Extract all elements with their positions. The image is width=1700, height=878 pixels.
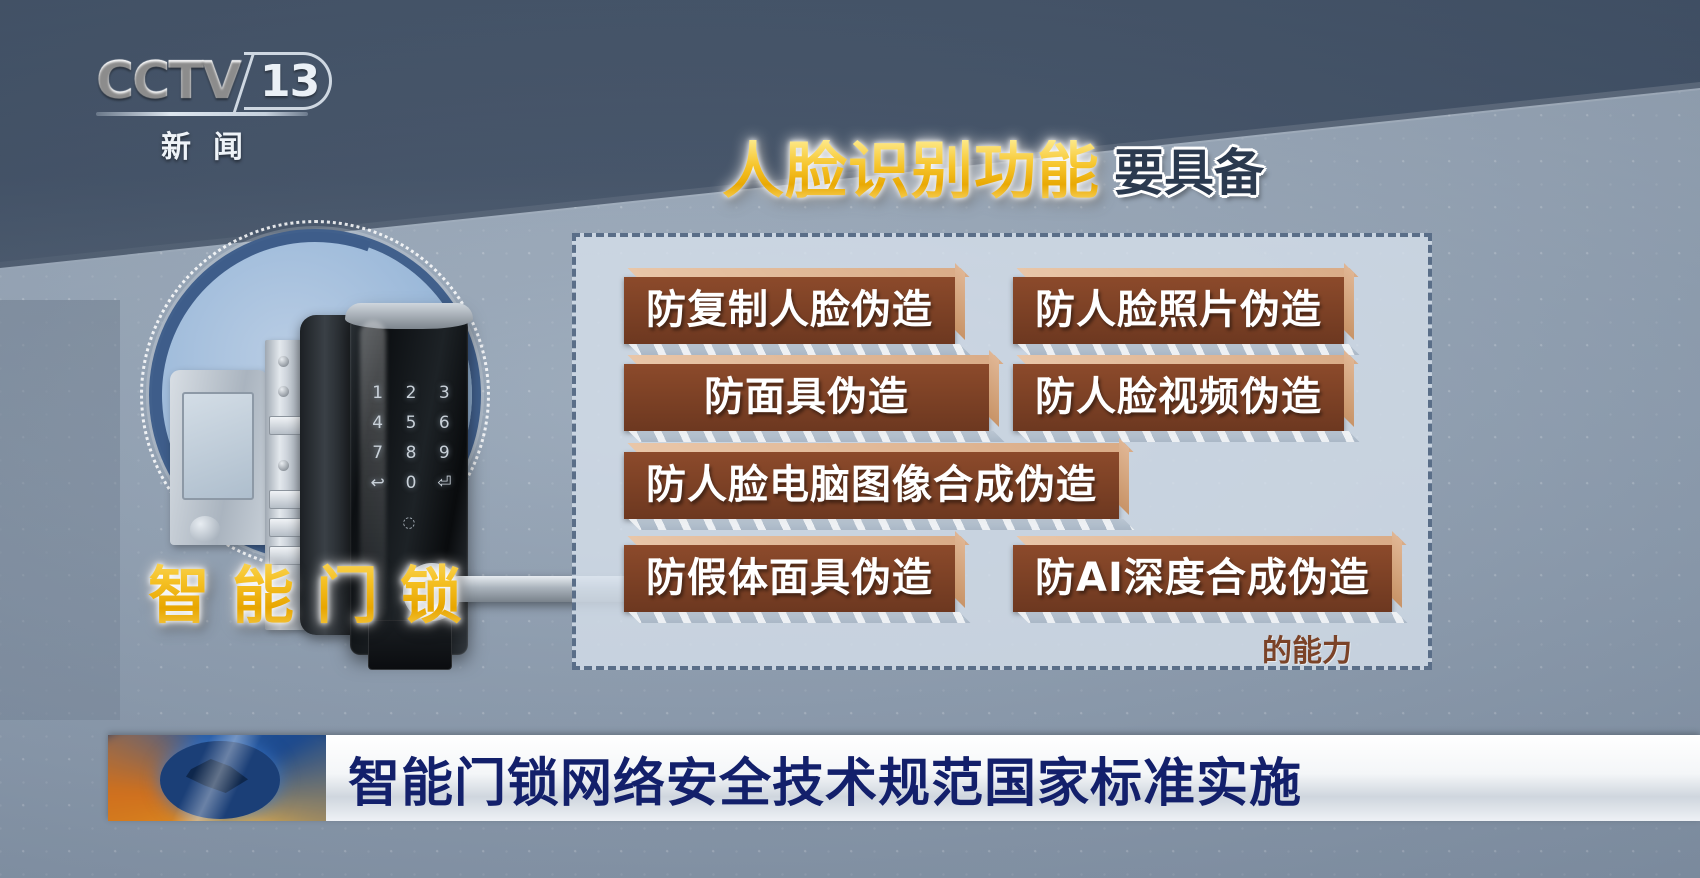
keypad-key[interactable]: 6 xyxy=(431,413,458,433)
lock-keypad[interactable]: 123456789↩0⏎ xyxy=(364,383,458,493)
chip-bottom-shadow xyxy=(629,344,971,355)
requirement-chip-body: 防假体面具伪造 xyxy=(624,545,955,612)
requirement-chip[interactable]: 防人脸视频伪造 xyxy=(1013,364,1344,431)
channel-logo-text: CCTV xyxy=(96,53,240,109)
headline: 人脸识别功能 要具备 xyxy=(722,140,1264,202)
keypad-key[interactable]: 7 xyxy=(364,443,391,463)
requirement-chip-body: 防人脸电脑图像合成伪造 xyxy=(624,452,1119,519)
lock-rear-knob xyxy=(190,516,220,542)
lock-rear-panel xyxy=(170,370,268,545)
requirement-chip-label: 防人脸视频伪造 xyxy=(1035,374,1322,421)
chip-bottom-shadow xyxy=(629,612,971,623)
chip-bottom-shadow xyxy=(1018,344,1360,355)
requirement-chip-body: 防人脸照片伪造 xyxy=(1013,277,1344,344)
requirement-chip-body: 防面具伪造 xyxy=(624,364,989,431)
requirement-chip[interactable]: 防人脸电脑图像合成伪造 xyxy=(624,452,1119,519)
keypad-key[interactable]: 4 xyxy=(364,413,391,433)
channel-number-badge: 13 xyxy=(244,52,332,110)
requirement-chip[interactable]: 防人脸照片伪造 xyxy=(1013,277,1344,344)
headline-gold-text: 人脸识别功能 xyxy=(722,140,1100,202)
lock-bolt xyxy=(269,518,303,537)
requirement-chip-label: 防人脸电脑图像合成伪造 xyxy=(646,462,1097,509)
lock-bolt xyxy=(269,490,303,509)
broadcast-frame: CCTV 13 新闻 xyxy=(0,0,1700,878)
requirement-chip[interactable]: 防面具伪造 xyxy=(624,364,989,431)
bolt-screw-icon xyxy=(278,386,289,397)
chip-bottom-shadow xyxy=(1018,431,1360,442)
requirement-chip[interactable]: 防假体面具伪造 xyxy=(624,545,955,612)
chip-top-bevel xyxy=(1017,355,1359,364)
keypad-key[interactable]: 1 xyxy=(364,383,391,403)
requirement-chip[interactable]: 防AI深度合成伪造 xyxy=(1013,545,1392,612)
chip-top-bevel xyxy=(628,355,1004,364)
channel-logo-underline xyxy=(96,112,308,116)
chip-bottom-shadow xyxy=(1018,612,1408,623)
chip-side-bevel xyxy=(955,263,965,340)
lock-rear-screen xyxy=(182,392,254,500)
chip-bottom-shadow xyxy=(629,519,1135,530)
smart-lock-illustration: 123456789↩0⏎ ◌ xyxy=(110,165,590,605)
bolt-screw-icon xyxy=(278,356,289,367)
headline-dark-text: 要具备 xyxy=(1114,148,1264,202)
channel-number-text: 13 xyxy=(260,56,319,107)
requirement-chip-body: 防AI深度合成伪造 xyxy=(1013,545,1392,612)
keypad-key[interactable]: 5 xyxy=(397,413,424,433)
requirement-chip-label: 防AI深度合成伪造 xyxy=(1035,555,1370,602)
chip-side-bevel xyxy=(1344,350,1354,427)
chip-top-bevel xyxy=(628,443,1134,452)
lower-third-title: 智能门锁网络安全技术规范国家标准实施 xyxy=(348,741,1302,816)
requirement-chip[interactable]: 防复制人脸伪造 xyxy=(624,277,955,344)
headline-suffix-text: 的能力 xyxy=(1262,626,1352,670)
globe-graphic-icon xyxy=(108,735,326,821)
channel-logo-row: CCTV 13 xyxy=(96,52,326,110)
keypad-key[interactable]: 2 xyxy=(397,383,424,403)
requirement-chip-label: 防面具伪造 xyxy=(704,374,909,421)
chip-top-bevel xyxy=(628,268,970,277)
chip-side-bevel xyxy=(1344,263,1354,340)
keypad-key[interactable]: 0 xyxy=(397,473,424,493)
requirement-chip-body: 防复制人脸伪造 xyxy=(624,277,955,344)
requirement-chip-label: 防假体面具伪造 xyxy=(646,555,933,602)
chip-bottom-shadow xyxy=(629,431,1005,442)
keypad-key[interactable]: 9 xyxy=(431,443,458,463)
requirement-chip-label: 防复制人脸伪造 xyxy=(646,287,933,334)
globe-light-streak xyxy=(108,735,326,821)
keypad-key[interactable]: ⏎ xyxy=(431,473,458,493)
chip-top-bevel xyxy=(1017,268,1359,277)
chip-top-bevel xyxy=(628,536,970,545)
smart-lock-label: 智能门锁 xyxy=(148,545,484,635)
keypad-key[interactable]: ↩ xyxy=(364,473,391,493)
requirement-chip-body: 防人脸视频伪造 xyxy=(1013,364,1344,431)
lower-third-banner: 智能门锁网络安全技术规范国家标准实施 xyxy=(108,735,1700,821)
chip-side-bevel xyxy=(989,350,999,427)
keypad-key[interactable]: 8 xyxy=(397,443,424,463)
chip-side-bevel xyxy=(955,531,965,608)
keypad-key[interactable]: 3 xyxy=(431,383,458,403)
chip-side-bevel xyxy=(1392,531,1402,608)
lock-bolt xyxy=(269,416,303,435)
lower-third-text-bar: 智能门锁网络安全技术规范国家标准实施 xyxy=(326,735,1700,821)
requirement-chip-label: 防人脸照片伪造 xyxy=(1035,287,1322,334)
channel-logo: CCTV 13 新闻 xyxy=(96,52,326,164)
chip-top-bevel xyxy=(1017,536,1407,545)
bolt-screw-icon xyxy=(278,460,289,471)
chip-side-bevel xyxy=(1119,438,1129,515)
channel-logo-subtitle: 新闻 xyxy=(96,122,308,166)
